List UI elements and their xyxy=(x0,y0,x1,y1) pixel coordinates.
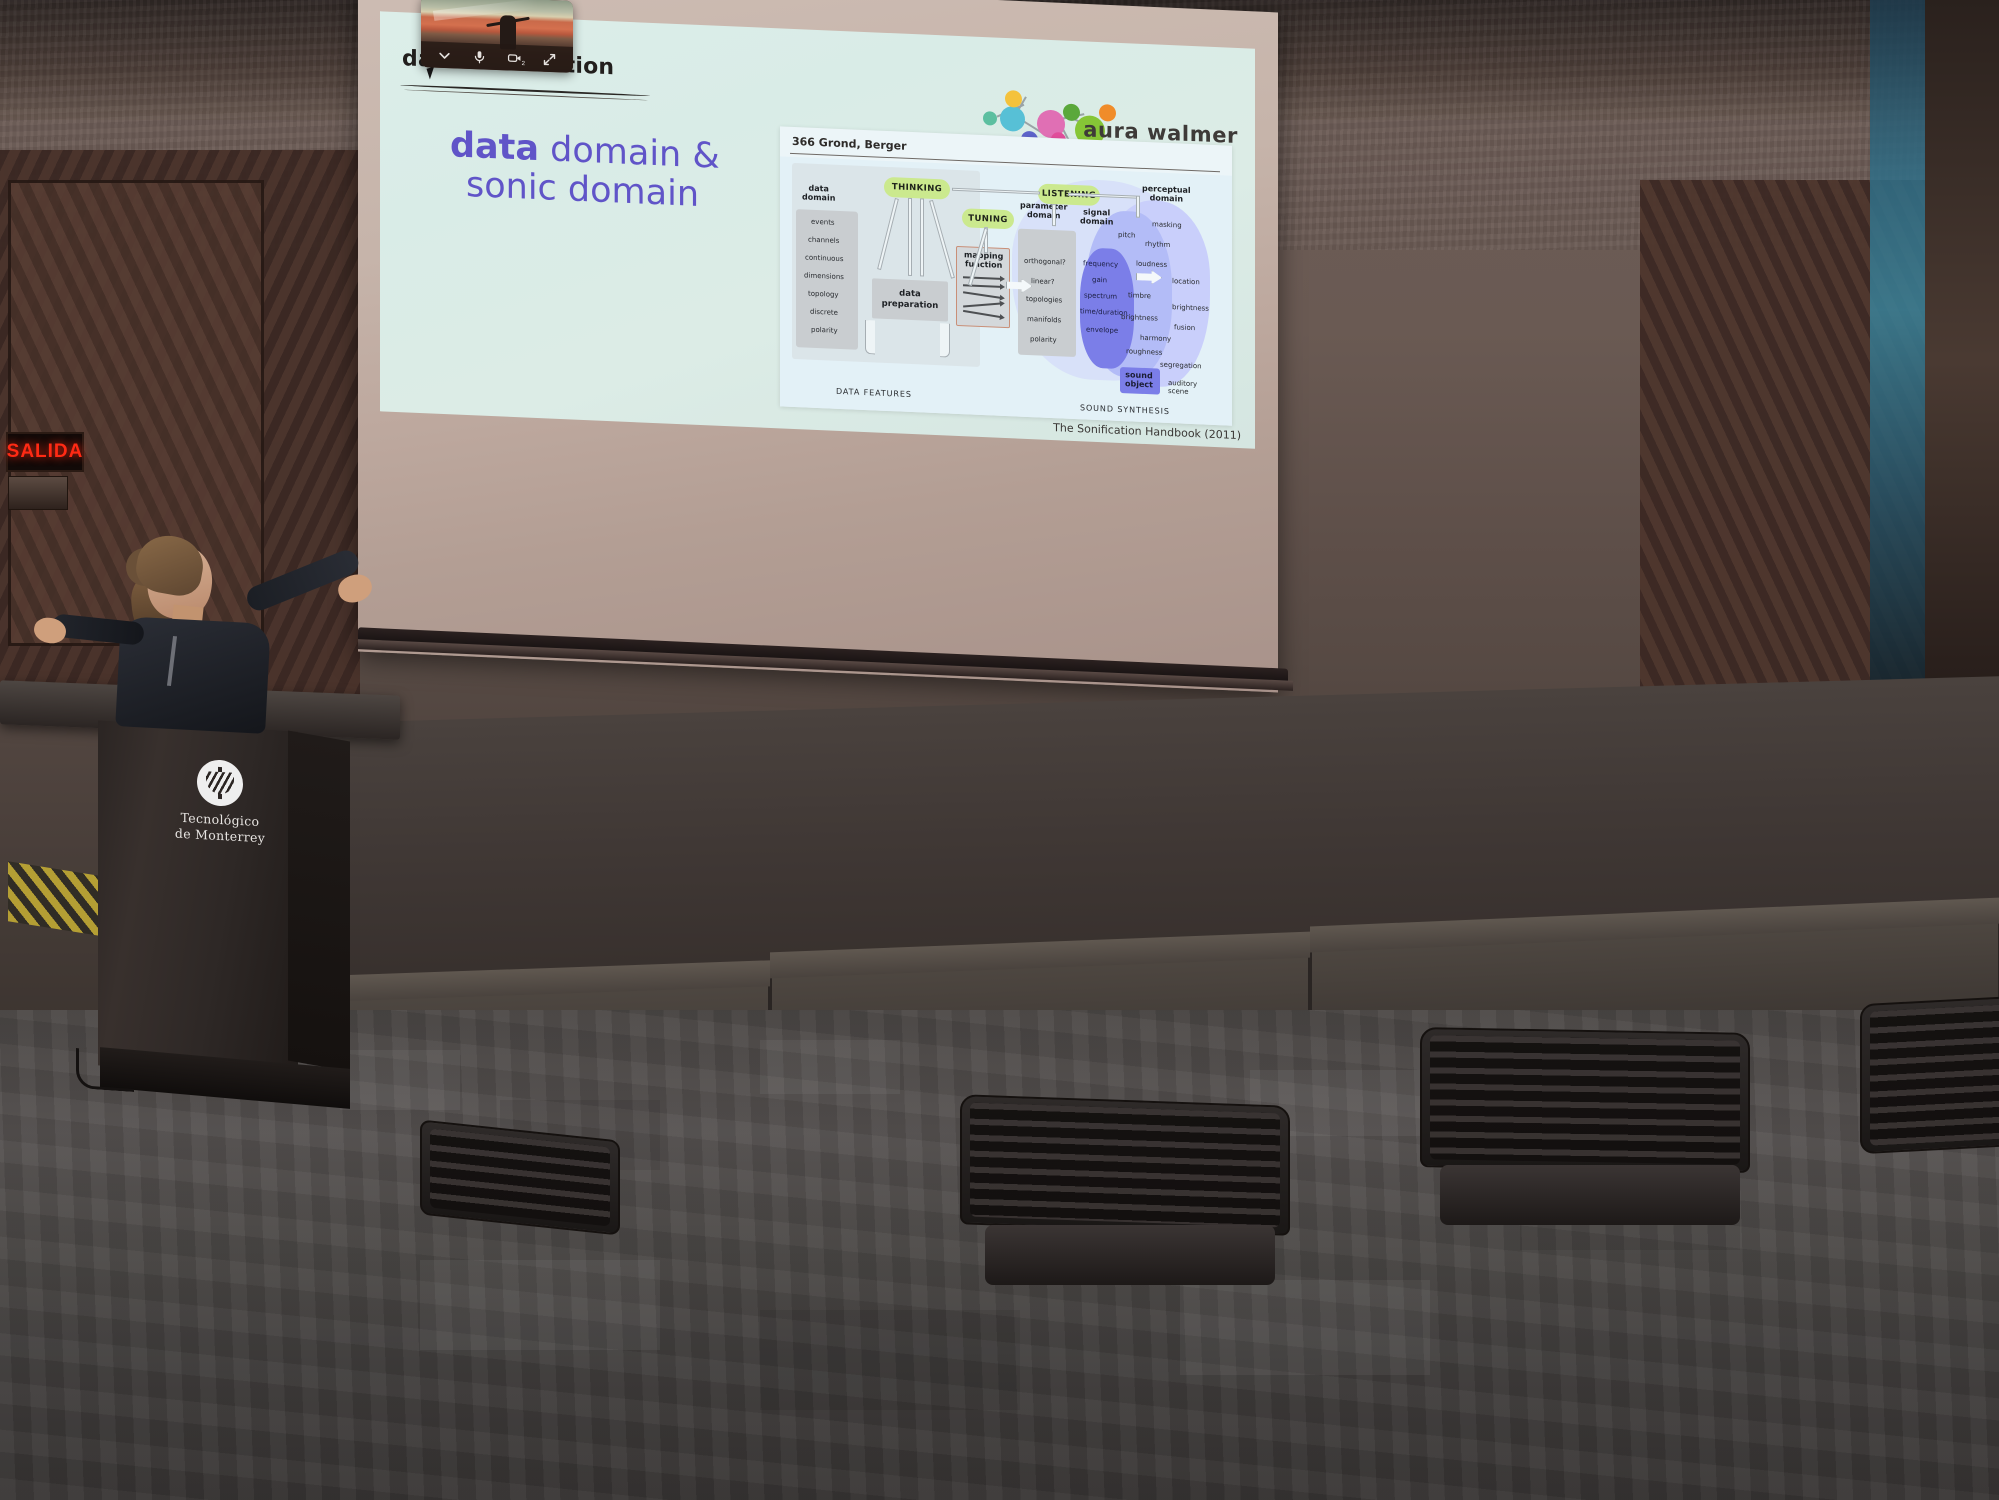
logo-node-yellow xyxy=(1005,90,1022,108)
perceptual-item: brightness xyxy=(1121,313,1158,323)
signal-item: spectrum xyxy=(1084,291,1117,300)
chevron-down-icon[interactable] xyxy=(437,47,452,63)
webcam-self-view-overlay[interactable]: 2 xyxy=(421,0,573,73)
perceptual-item: roughness xyxy=(1126,347,1162,357)
connector xyxy=(920,198,924,276)
section-label-data-features: DATA FEATURES xyxy=(836,387,912,399)
chair-back xyxy=(1420,1027,1750,1173)
data-item: events xyxy=(811,218,835,227)
tec-logo-text: Tecnológico de Monterrey xyxy=(160,809,280,847)
headline-bold-word: data xyxy=(450,125,539,169)
connector xyxy=(1136,196,1140,218)
chair-back xyxy=(1860,996,1999,1154)
podium-side-panel xyxy=(288,731,350,1072)
perceptual-item: loudness xyxy=(1136,260,1167,269)
connector xyxy=(940,323,950,357)
data-item: continuous xyxy=(805,253,844,263)
logo-node-cyan xyxy=(1000,106,1025,132)
perceptual-item: brightness xyxy=(1172,303,1209,313)
exit-sign-label: SALIDA xyxy=(7,441,84,463)
process-thinking: THINKING xyxy=(884,177,950,200)
perceptual-item: segregation xyxy=(1160,361,1202,371)
signal-item: gain xyxy=(1092,276,1107,285)
blue-light-strip xyxy=(1870,0,1925,690)
perceptual-item: rhythm xyxy=(1145,240,1170,249)
signal-item: envelope xyxy=(1086,325,1118,334)
parameter-item: topologies xyxy=(1026,295,1062,305)
logo-node-teal xyxy=(983,111,997,126)
chair-seat xyxy=(1440,1165,1740,1225)
process-tuning: TUNING xyxy=(962,208,1014,229)
expand-icon[interactable] xyxy=(542,51,557,67)
carpet-tile xyxy=(760,1040,900,1094)
data-item: dimensions xyxy=(804,271,844,281)
data-item: channels xyxy=(808,236,839,245)
figure-source-ref: 366 Grond, Berger xyxy=(792,135,907,153)
perceptual-item: auditoryscene xyxy=(1168,379,1197,396)
tec-de-monterrey-logo: Tecnológico de Monterrey xyxy=(160,757,280,873)
figure-canvas: datadomain events channels continuous di… xyxy=(780,156,1232,425)
exit-sign: SALIDA xyxy=(6,432,84,472)
parameter-item: orthogonal? xyxy=(1024,257,1066,267)
slide-headline: data domain & sonic domain xyxy=(450,126,780,217)
perceptual-item: pitch xyxy=(1118,231,1135,240)
wall-right-edge xyxy=(1925,0,1999,720)
auditorium-photo: SALIDA data sonification data domain & s… xyxy=(0,0,1999,1500)
chair-seat xyxy=(985,1225,1275,1285)
figure-panel: 366 Grond, Berger datadomain events chan… xyxy=(780,126,1232,425)
camera-badge: 2 xyxy=(522,60,525,66)
parameter-item: polarity xyxy=(1030,335,1057,344)
data-domain-label: datadomain xyxy=(802,183,835,202)
carpet-tile xyxy=(760,1310,1020,1410)
carpet-tile xyxy=(1180,1280,1430,1375)
signal-domain-label: signaldomain xyxy=(1080,207,1113,226)
section-label-sound-synthesis: SOUND SYNTHESIS xyxy=(1080,403,1170,416)
perceptual-item: harmony xyxy=(1140,334,1171,343)
headline-line2: sonic domain xyxy=(450,165,780,218)
exit-sign-housing xyxy=(8,476,68,510)
perceptual-item: location xyxy=(1172,277,1200,286)
microphone-stand xyxy=(76,1048,134,1092)
carpet-tile xyxy=(420,1260,660,1350)
perceptual-item: masking xyxy=(1152,220,1182,229)
parameter-item: manifolds xyxy=(1027,315,1061,324)
chair-slats xyxy=(1430,1035,1740,1164)
microphone-icon[interactable] xyxy=(472,49,487,65)
connector xyxy=(865,320,875,354)
perceptual-domain-label: perceptualdomain xyxy=(1142,184,1191,204)
projected-slide: data sonification data domain & sonic do… xyxy=(380,11,1255,448)
logo-node-green xyxy=(1063,104,1080,122)
chair-slats xyxy=(970,1103,1280,1228)
connector xyxy=(908,198,912,276)
perceptual-item: timbre xyxy=(1128,291,1151,300)
data-item: discrete xyxy=(810,308,838,317)
chair-slats xyxy=(1870,1004,1999,1145)
tec-emblem-icon xyxy=(197,759,243,807)
carpet-tile xyxy=(340,1050,460,1110)
mapping-function-label: mappingfunction xyxy=(964,250,1003,270)
sound-object-label: soundobject xyxy=(1125,370,1153,389)
data-item: topology xyxy=(808,290,839,299)
camera-icon[interactable]: 2 xyxy=(507,50,522,66)
data-preparation-box: datapreparation xyxy=(872,278,948,321)
signal-item: frequency xyxy=(1083,259,1118,269)
parameter-item: linear? xyxy=(1031,277,1055,286)
data-item: polarity xyxy=(811,326,838,335)
chair-back xyxy=(960,1094,1290,1236)
chair-slats xyxy=(430,1129,610,1227)
perceptual-item: fusion xyxy=(1174,323,1195,332)
connector xyxy=(1052,204,1056,226)
